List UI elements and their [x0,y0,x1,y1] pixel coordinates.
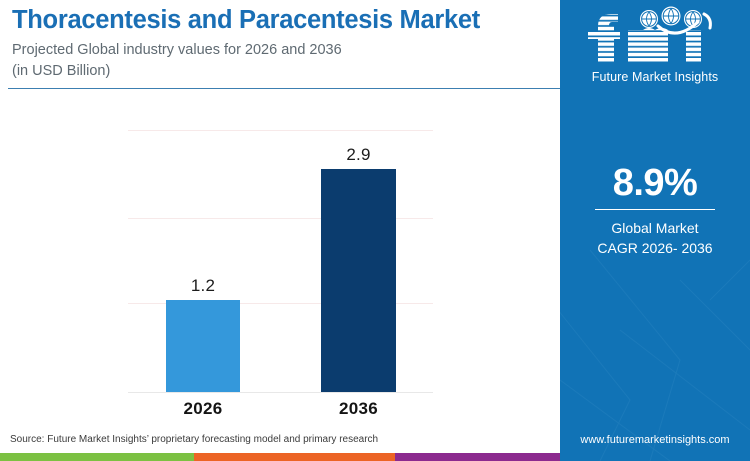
axis-baseline [128,392,433,393]
cagr-value: 8.9% [560,162,750,205]
cagr-caption: Global MarketCAGR 2026- 2036 [560,218,750,259]
website-url: www.futuremarketinsights.com [560,434,750,446]
strip-segment-orange [194,453,395,461]
brand-wordmark: Future Market Insights [560,70,750,84]
bar-2026 [166,300,240,392]
page-subtitle: Projected Global industry values for 202… [12,40,542,81]
left-content-panel: Thoracentesis and Paracentesis Market Pr… [0,0,560,461]
bar-value-label-2036: 2.9 [321,145,396,165]
bar-value-label-2026: 1.2 [166,276,240,296]
strip-segment-green [0,453,194,461]
page-title: Thoracentesis and Paracentesis Market [12,6,557,35]
footer-color-strip [0,453,560,461]
brand-logo: Future Market Insights [560,6,750,84]
bar-2036 [321,169,396,392]
source-note: Source: Future Market Insights’ propriet… [10,434,378,445]
fmi-logo-icon [580,6,730,68]
brand-sidebar: Future Market Insights 8.9% Global Marke… [560,0,750,461]
gridline [128,130,433,131]
header-divider [8,88,560,89]
category-label-2036: 2036 [311,399,406,419]
infographic-page: Thoracentesis and Paracentesis Market Pr… [0,0,750,461]
bar-chart: 1.2 2.9 2026 2036 [0,96,560,426]
category-label-2026: 2026 [156,399,250,419]
cagr-divider [595,209,715,210]
strip-segment-purple [395,453,560,461]
